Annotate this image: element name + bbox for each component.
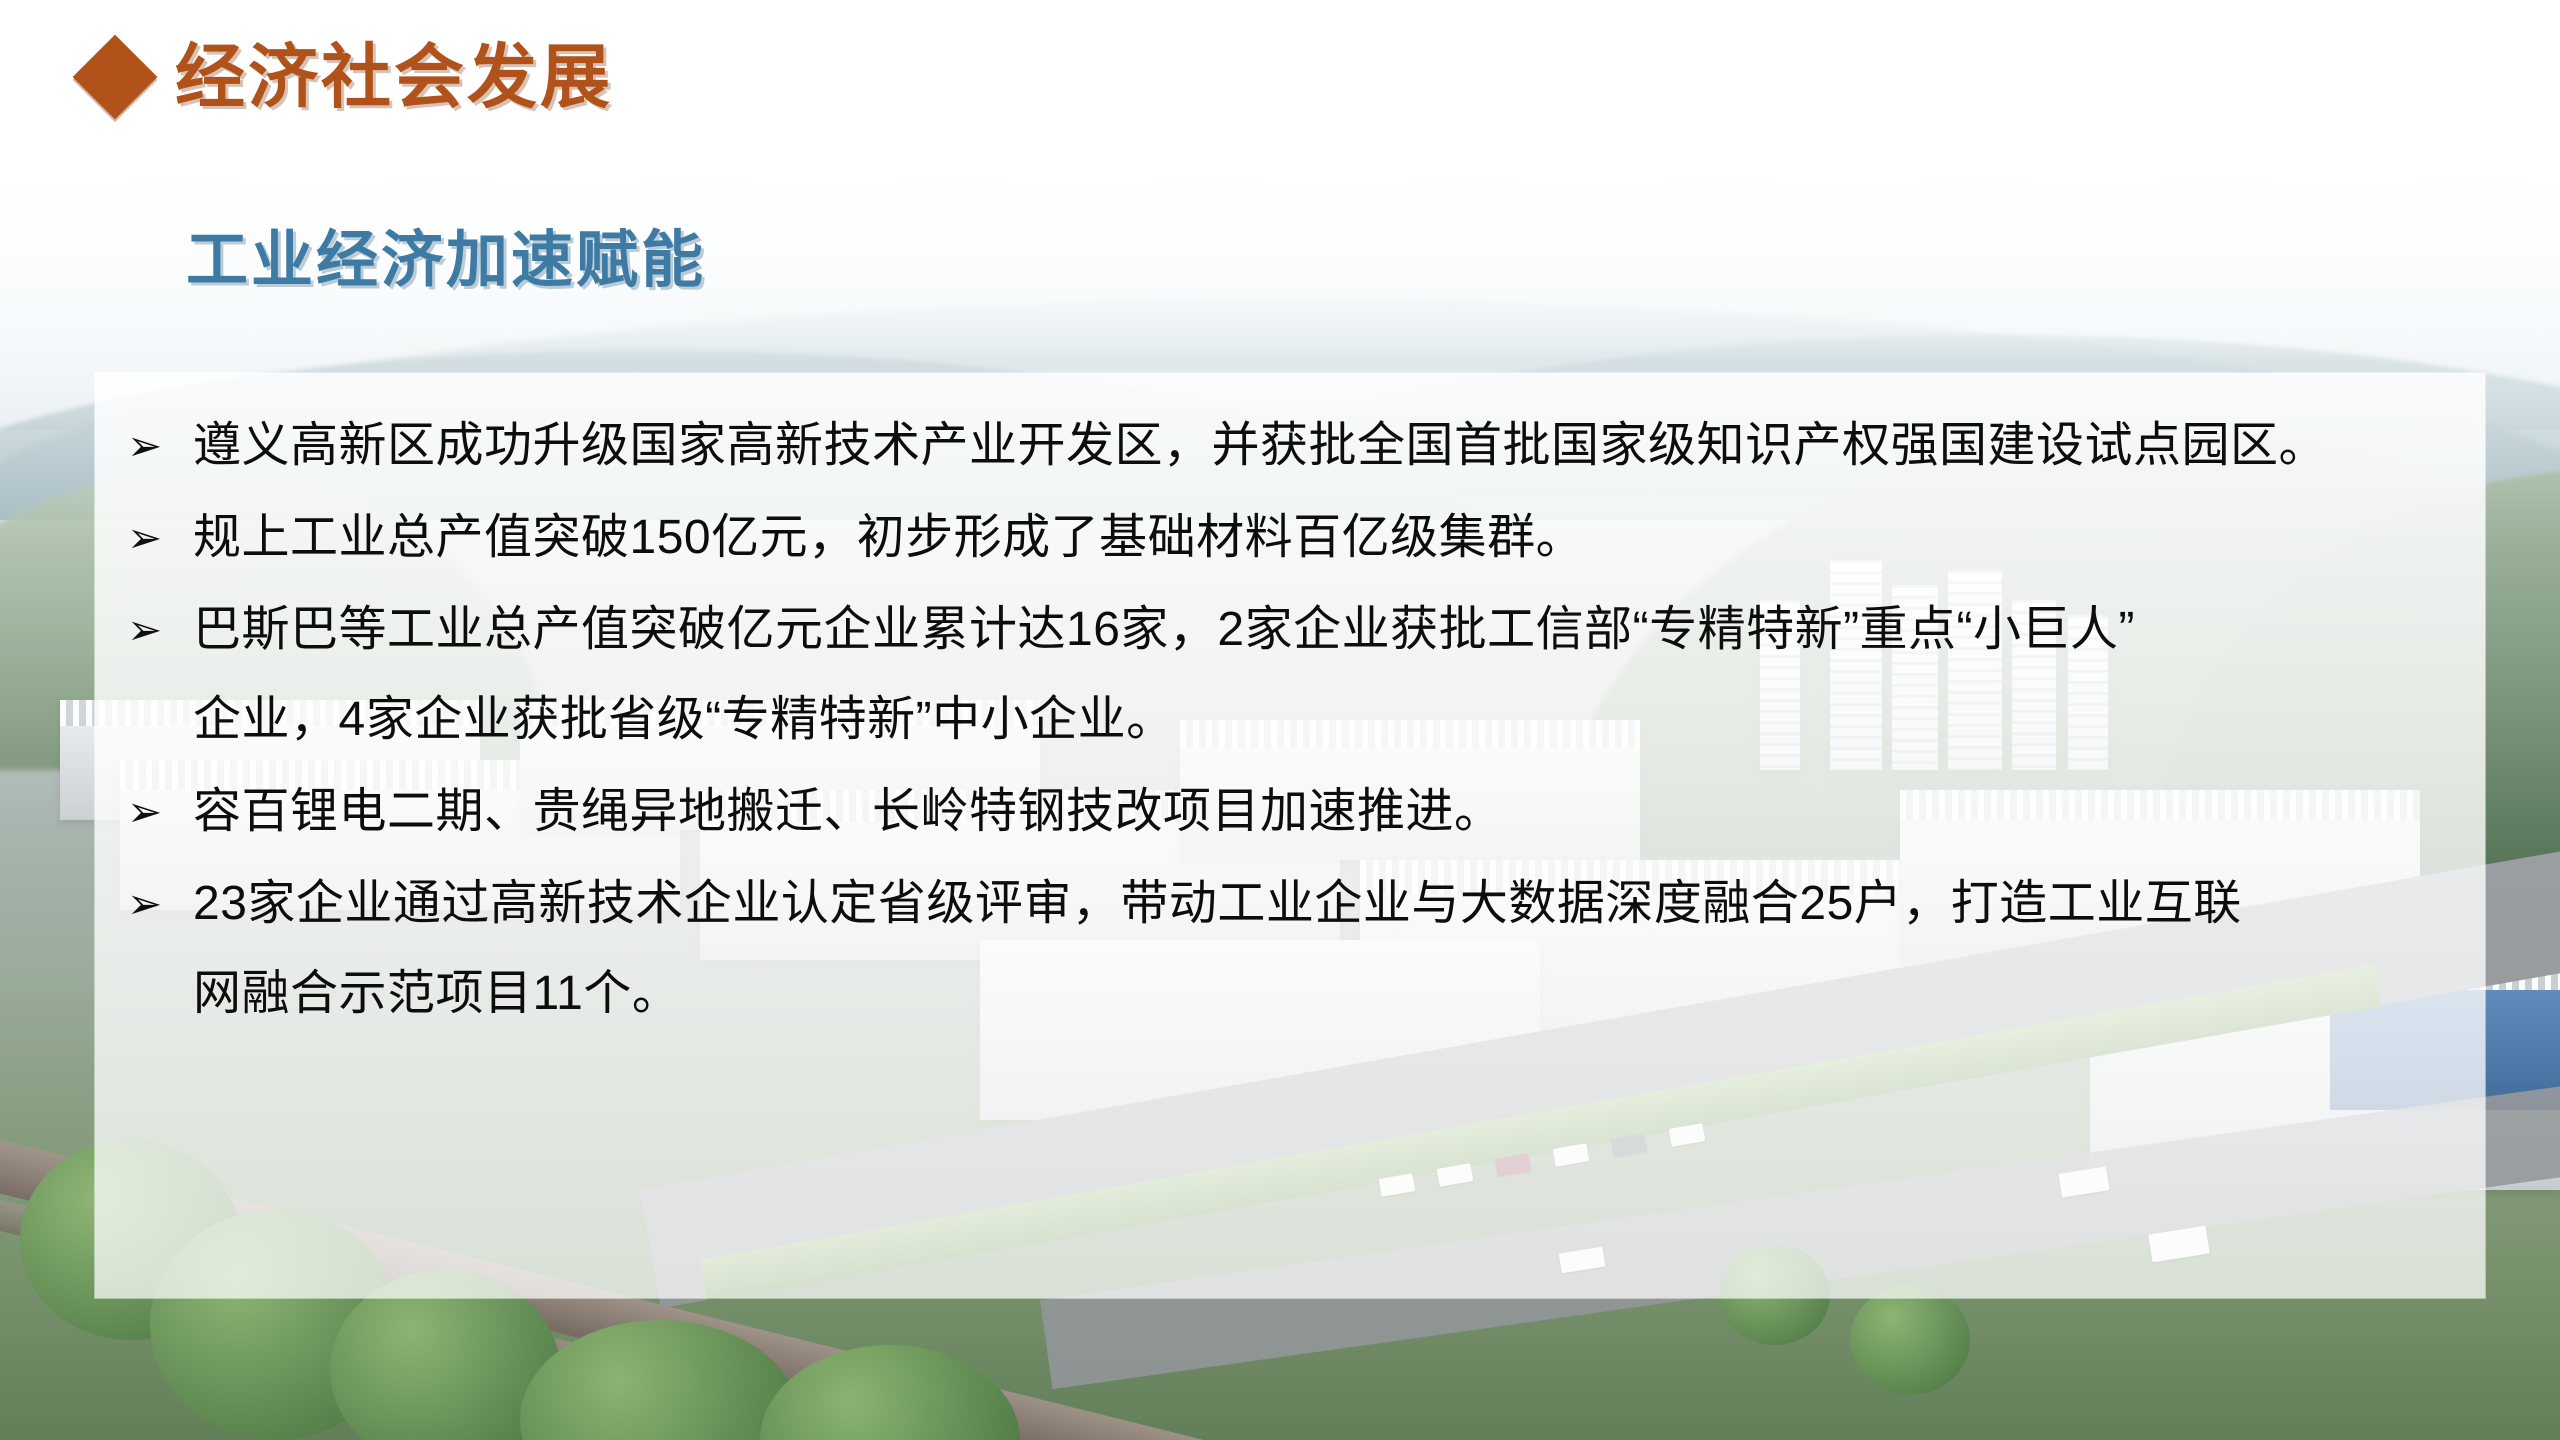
bullet-text: 巴斯巴等工业总产值突破亿元企业累计达16家，2家企业获批工信部“专精特新”重点“… bbox=[193, 591, 2459, 759]
bullet-item: ➢23家企业通过高新技术企业认定省级评审，带动工业企业与大数据深度融合25户，打… bbox=[121, 865, 2459, 1033]
page-title: 经济社会发展 bbox=[175, 42, 613, 112]
bullet-arrow-icon: ➢ bbox=[121, 407, 193, 485]
page-subtitle: 工业经济加速赋能 bbox=[186, 230, 706, 292]
bullet-text-line: 遵义高新区成功升级国家高新技术产业开发区，并获批全国首批国家级知识产权强国建设试… bbox=[193, 407, 2459, 485]
bullet-text-line: 23家企业通过高新技术企业认定省级评审，带动工业企业与大数据深度融合25户，打造… bbox=[193, 865, 2459, 943]
bullet-arrow-icon: ➢ bbox=[121, 865, 193, 943]
bullet-text-line: 网融合示范项目11个。 bbox=[193, 955, 2459, 1033]
bullet-item: ➢遵义高新区成功升级国家高新技术产业开发区，并获批全国首批国家级知识产权强国建设… bbox=[121, 407, 2459, 485]
bullet-arrow-icon: ➢ bbox=[121, 773, 193, 851]
bullet-item: ➢巴斯巴等工业总产值突破亿元企业累计达16家，2家企业获批工信部“专精特新”重点… bbox=[121, 591, 2459, 759]
diamond-icon bbox=[73, 35, 158, 120]
bullet-text-line: 规上工业总产值突破150亿元，初步形成了基础材料百亿级集群。 bbox=[193, 499, 2459, 577]
page-title-row: 经济社会发展 bbox=[85, 42, 613, 112]
bullet-item: ➢容百锂电二期、贵绳异地搬迁、长岭特钢技改项目加速推进。 bbox=[121, 773, 2459, 851]
bullet-text-line: 巴斯巴等工业总产值突破亿元企业累计达16家，2家企业获批工信部“专精特新”重点“… bbox=[193, 591, 2459, 669]
bullet-arrow-icon: ➢ bbox=[121, 499, 193, 577]
bullet-text: 遵义高新区成功升级国家高新技术产业开发区，并获批全国首批国家级知识产权强国建设试… bbox=[193, 407, 2459, 485]
bullet-text: 规上工业总产值突破150亿元，初步形成了基础材料百亿级集群。 bbox=[193, 499, 2459, 577]
slide: 经济社会发展 工业经济加速赋能 ➢遵义高新区成功升级国家高新技术产业开发区，并获… bbox=[0, 0, 2560, 1440]
bullet-arrow-icon: ➢ bbox=[121, 591, 193, 669]
bullet-text: 容百锂电二期、贵绳异地搬迁、长岭特钢技改项目加速推进。 bbox=[193, 773, 2459, 851]
bullet-item: ➢规上工业总产值突破150亿元，初步形成了基础材料百亿级集群。 bbox=[121, 499, 2459, 577]
bullet-text-line: 企业，4家企业获批省级“专精特新”中小企业。 bbox=[193, 681, 2459, 759]
header-band: 经济社会发展 工业经济加速赋能 bbox=[0, 0, 2560, 360]
content-panel: ➢遵义高新区成功升级国家高新技术产业开发区，并获批全国首批国家级知识产权强国建设… bbox=[95, 373, 2485, 1298]
bullet-list: ➢遵义高新区成功升级国家高新技术产业开发区，并获批全国首批国家级知识产权强国建设… bbox=[95, 373, 2485, 1047]
bullet-text: 23家企业通过高新技术企业认定省级评审，带动工业企业与大数据深度融合25户，打造… bbox=[193, 865, 2459, 1033]
bullet-text-line: 容百锂电二期、贵绳异地搬迁、长岭特钢技改项目加速推进。 bbox=[193, 773, 2459, 851]
